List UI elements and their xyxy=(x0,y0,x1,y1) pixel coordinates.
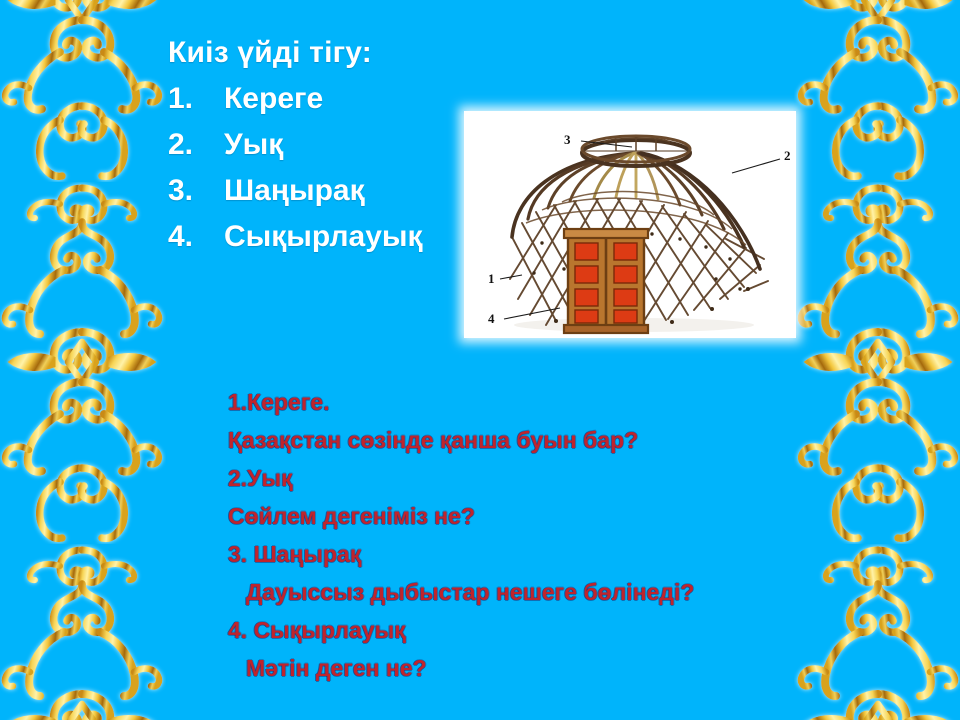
ornament-tile xyxy=(0,0,166,182)
list-item-number: 4. xyxy=(168,214,224,260)
ornament-tile xyxy=(0,182,166,544)
list-item-number: 3. xyxy=(168,168,224,214)
yurt-frame-diagram: 3 2 1 4 xyxy=(464,111,796,338)
shanyrak-ring xyxy=(582,136,690,166)
list-item: 1. Кереге xyxy=(168,76,498,122)
callout-label-2: 2 xyxy=(784,148,791,163)
page-title: Киіз үйді тігу: xyxy=(168,36,498,70)
ornament-tile xyxy=(794,0,960,182)
ornament-border-left xyxy=(0,0,166,720)
list-item-label: Уық xyxy=(224,122,283,168)
slide-canvas: Киіз үйді тігу: 1. Кереге 2. Уық 3. Шаңы… xyxy=(0,0,960,720)
qa-line: Мәтін деген не? xyxy=(228,649,828,687)
callout-label-3: 3 xyxy=(564,132,571,147)
qa-line: Сөйлем дегеніміз не? xyxy=(228,497,828,535)
list-item: 2. Уық xyxy=(168,122,498,168)
list-item-label: Сықырлауық xyxy=(224,214,423,260)
list-item: 3. Шаңырақ xyxy=(168,168,498,214)
list-item: 4. Сықырлауық xyxy=(168,214,498,260)
qa-line: Дауыссыз дыбыстар нешеге бөлінеді? xyxy=(228,573,828,611)
qa-line: 3. Шаңырақ xyxy=(228,535,828,573)
list-item-label: Шаңырақ xyxy=(224,168,365,214)
ornament-tile xyxy=(0,544,166,720)
list-item-number: 1. xyxy=(168,76,224,122)
qa-line: 2.Уық xyxy=(228,459,828,497)
list-item-number: 2. xyxy=(168,122,224,168)
list-item-label: Кереге xyxy=(224,76,323,122)
qa-line: 1.Кереге. xyxy=(228,383,828,421)
callout-label-1: 1 xyxy=(488,271,495,286)
qa-line: Қазақстан сөзінде қанша буын бар? xyxy=(228,421,828,459)
yurt-parts-list: 1. Кереге 2. Уық 3. Шаңырақ 4. Сықырлауы… xyxy=(168,76,498,260)
qa-line: 4. Сықырлауық xyxy=(228,611,828,649)
questions-block: 1.Кереге. Қазақстан сөзінде қанша буын б… xyxy=(228,383,828,687)
callout-label-4: 4 xyxy=(488,311,495,326)
yurt-door xyxy=(564,229,648,333)
heading-block: Киіз үйді тігу: 1. Кереге 2. Уық 3. Шаңы… xyxy=(168,36,498,260)
yurt-diagram-panel: 3 2 1 4 xyxy=(464,111,796,338)
